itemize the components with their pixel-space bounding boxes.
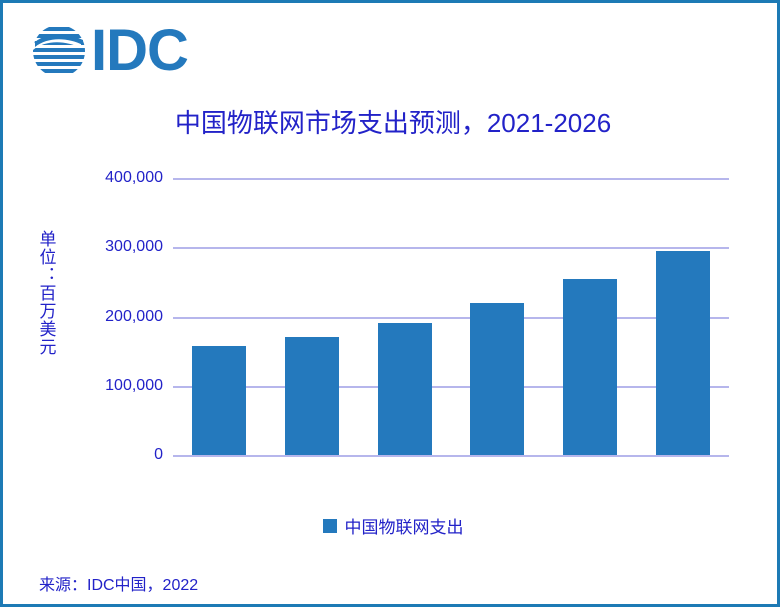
idc-logo: IDC [31, 19, 216, 83]
idc-globe-icon [31, 22, 87, 80]
plot-area: 0100,000200,000300,000400,000 2021202220… [3, 163, 780, 493]
bar [656, 251, 710, 455]
bar [378, 323, 432, 455]
y-tick-label: 200,000 [63, 308, 163, 326]
bar [192, 346, 246, 455]
chart-title: 中国物联网市场支出预测，2021-2026 [3, 103, 780, 140]
idc-wordmark: IDC [91, 22, 188, 80]
source-note: 来源：IDC中国，2022 [39, 571, 198, 595]
chart-page: IDC 中国物联网市场支出预测，2021-2026 单位：百万美元 0100,0… [0, 0, 780, 607]
bar-series [173, 178, 729, 455]
legend-label: 中国物联网支出 [345, 513, 464, 538]
bar [563, 279, 617, 455]
chart-legend: 中国物联网支出 [3, 513, 780, 538]
bar [470, 303, 524, 455]
y-tick-label: 100,000 [63, 377, 163, 395]
y-tick-label: 0 [63, 446, 163, 464]
y-tick-label: 400,000 [63, 169, 163, 187]
bar [285, 337, 339, 455]
gridline [173, 455, 729, 457]
legend-swatch [323, 519, 337, 533]
y-tick-label: 300,000 [63, 238, 163, 256]
